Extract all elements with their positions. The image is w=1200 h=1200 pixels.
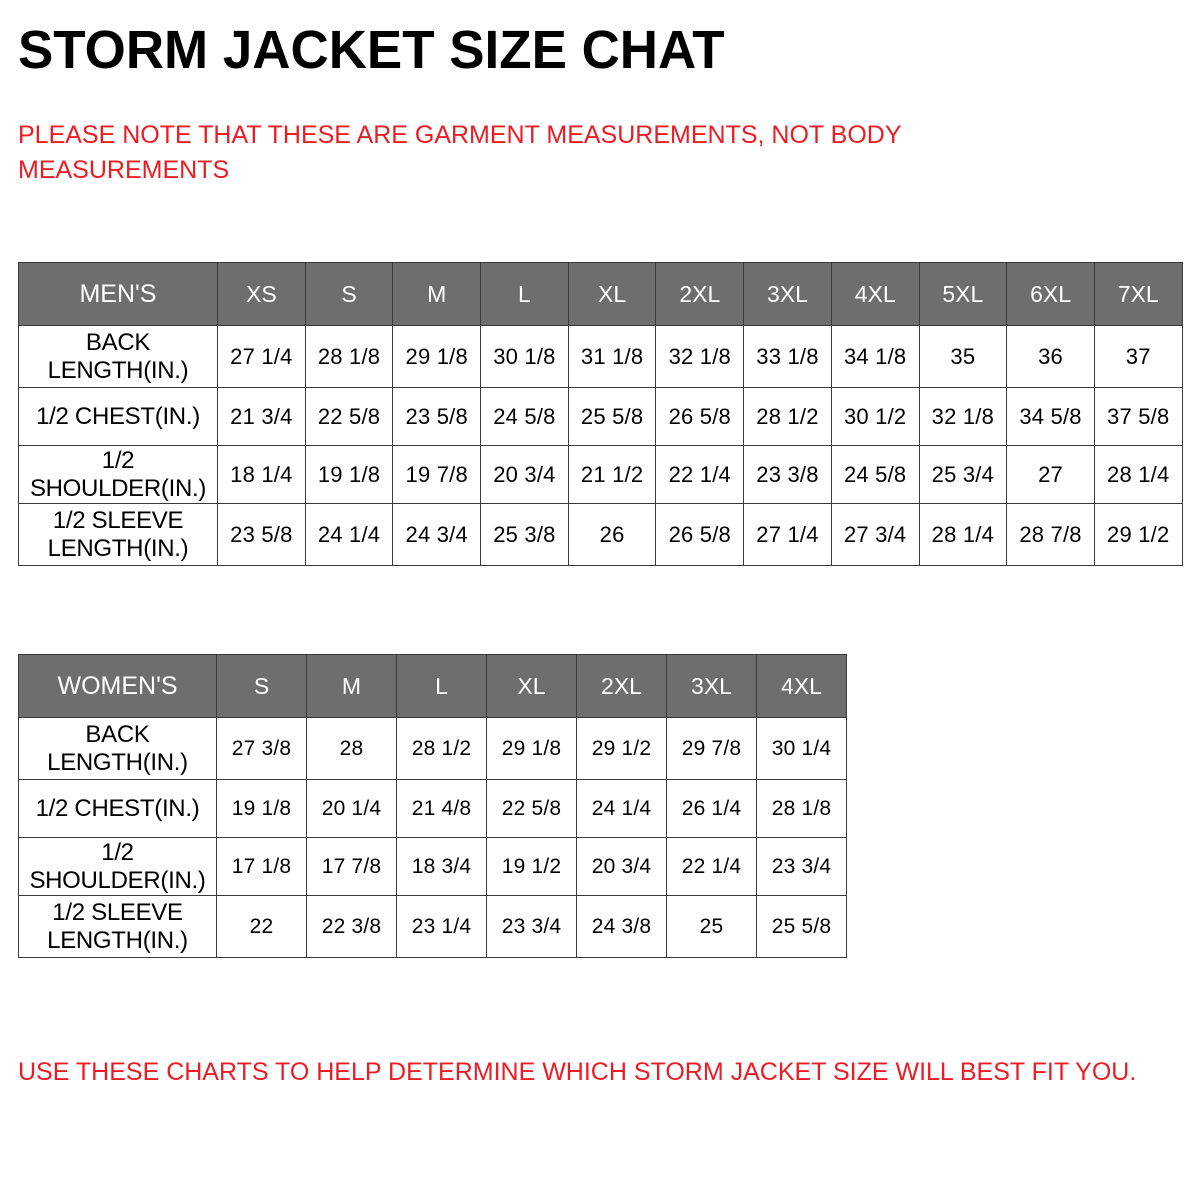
mens-measurement-label: 1/2 CHEST(IN.) (19, 388, 218, 446)
measurement-cell: 19 1/2 (487, 838, 577, 896)
measurement-cell: 30 1/8 (481, 326, 569, 388)
measurement-cell: 17 7/8 (307, 838, 397, 896)
page-title: STORM JACKET SIZE CHAT (18, 22, 725, 79)
measurement-cell: 24 3/8 (577, 896, 667, 958)
measurement-cell: 28 1/4 (1094, 446, 1182, 504)
measurement-cell: 20 1/4 (307, 780, 397, 838)
womens-size-header-3xl: 3XL (667, 655, 757, 718)
measurement-cell: 24 5/8 (831, 446, 919, 504)
measurement-cell: 23 3/8 (744, 446, 832, 504)
measurement-cell: 31 1/8 (568, 326, 656, 388)
measurement-cell: 22 1/4 (667, 838, 757, 896)
measurement-cell: 28 (307, 718, 397, 780)
table-row: 1/2 CHEST(IN.)19 1/820 1/421 4/822 5/824… (19, 780, 847, 838)
measurement-cell: 27 (1007, 446, 1095, 504)
womens-size-header-4xl: 4XL (757, 655, 847, 718)
mens-table-head: MEN'SXSSMLXL2XL3XL4XL5XL6XL7XL (19, 263, 1183, 326)
measurement-cell: 26 5/8 (656, 388, 744, 446)
measurement-cell: 20 3/4 (577, 838, 667, 896)
womens-size-header-s: S (217, 655, 307, 718)
measurement-cell: 27 1/4 (744, 504, 832, 566)
measurement-cell: 29 1/8 (393, 326, 481, 388)
womens-size-header-xl: XL (487, 655, 577, 718)
measurement-cell: 19 1/8 (217, 780, 307, 838)
womens-table-head: WOMEN'SSMLXL2XL3XL4XL (19, 655, 847, 718)
measurement-cell: 24 3/4 (393, 504, 481, 566)
mens-table-corner-label: MEN'S (19, 263, 218, 326)
womens-measurement-label: 1/2 CHEST(IN.) (19, 780, 217, 838)
mens-size-header-l: L (481, 263, 569, 326)
measurement-cell: 33 1/8 (744, 326, 832, 388)
mens-size-header-6xl: 6XL (1007, 263, 1095, 326)
measurement-cell: 28 1/2 (744, 388, 832, 446)
measurement-cell: 20 3/4 (481, 446, 569, 504)
measurement-cell: 28 1/2 (397, 718, 487, 780)
mens-size-header-xl: XL (568, 263, 656, 326)
mens-size-header-m: M (393, 263, 481, 326)
measurement-cell: 28 1/8 (757, 780, 847, 838)
measurement-cell: 23 5/8 (218, 504, 306, 566)
measurement-cell: 17 1/8 (217, 838, 307, 896)
mens-size-header-2xl: 2XL (656, 263, 744, 326)
measurement-cell: 21 1/2 (568, 446, 656, 504)
measurement-cell: 23 3/4 (487, 896, 577, 958)
measurement-cell: 37 5/8 (1094, 388, 1182, 446)
womens-table-corner-label: WOMEN'S (19, 655, 217, 718)
measurement-cell: 23 1/4 (397, 896, 487, 958)
measurement-cell: 27 1/4 (218, 326, 306, 388)
measurement-cell: 30 1/2 (831, 388, 919, 446)
measurement-cell: 24 1/4 (305, 504, 393, 566)
measurement-cell: 22 3/8 (307, 896, 397, 958)
table-row: 1/2 SHOULDER(IN.)17 1/817 7/818 3/419 1/… (19, 838, 847, 896)
measurement-cell: 32 1/8 (656, 326, 744, 388)
measurement-cell: 25 5/8 (757, 896, 847, 958)
measurement-cell: 34 1/8 (831, 326, 919, 388)
garment-measurement-note: PLEASE NOTE THAT THESE ARE GARMENT MEASU… (18, 118, 978, 187)
measurement-cell: 25 (667, 896, 757, 958)
measurement-cell: 29 7/8 (667, 718, 757, 780)
womens-measurement-label: 1/2 SLEEVELENGTH(IN.) (19, 896, 217, 958)
measurement-cell: 32 1/8 (919, 388, 1007, 446)
measurement-cell: 23 5/8 (393, 388, 481, 446)
measurement-cell: 35 (919, 326, 1007, 388)
mens-size-header-s: S (305, 263, 393, 326)
mens-measurement-label: BACKLENGTH(IN.) (19, 326, 218, 388)
measurement-cell: 19 7/8 (393, 446, 481, 504)
table-row: BACKLENGTH(IN.)27 3/82828 1/229 1/829 1/… (19, 718, 847, 780)
measurement-cell: 23 3/4 (757, 838, 847, 896)
womens-size-table: WOMEN'SSMLXL2XL3XL4XL BACKLENGTH(IN.)27 … (18, 654, 847, 958)
measurement-cell: 22 1/4 (656, 446, 744, 504)
womens-size-header-m: M (307, 655, 397, 718)
measurement-cell: 25 5/8 (568, 388, 656, 446)
womens-measurement-label: BACKLENGTH(IN.) (19, 718, 217, 780)
measurement-cell: 26 5/8 (656, 504, 744, 566)
chart-usage-note: USE THESE CHARTS TO HELP DETERMINE WHICH… (18, 1058, 1138, 1087)
measurement-cell: 22 5/8 (487, 780, 577, 838)
measurement-cell: 29 1/8 (487, 718, 577, 780)
measurement-cell: 34 5/8 (1007, 388, 1095, 446)
table-row: 1/2 SHOULDER(IN.)18 1/419 1/819 7/820 3/… (19, 446, 1183, 504)
table-row: 1/2 SLEEVELENGTH(IN.)2222 3/823 1/423 3/… (19, 896, 847, 958)
table-row: BACKLENGTH(IN.)27 1/428 1/829 1/830 1/83… (19, 326, 1183, 388)
measurement-cell: 28 1/8 (305, 326, 393, 388)
mens-size-header-4xl: 4XL (831, 263, 919, 326)
measurement-cell: 19 1/8 (305, 446, 393, 504)
mens-size-header-5xl: 5XL (919, 263, 1007, 326)
measurement-cell: 28 1/4 (919, 504, 1007, 566)
mens-table-body: BACKLENGTH(IN.)27 1/428 1/829 1/830 1/83… (19, 326, 1183, 566)
measurement-cell: 36 (1007, 326, 1095, 388)
table-row: 1/2 CHEST(IN.)21 3/422 5/823 5/824 5/825… (19, 388, 1183, 446)
measurement-cell: 24 1/4 (577, 780, 667, 838)
measurement-cell: 22 (217, 896, 307, 958)
measurement-cell: 28 7/8 (1007, 504, 1095, 566)
mens-header-row: MEN'SXSSMLXL2XL3XL4XL5XL6XL7XL (19, 263, 1183, 326)
mens-measurement-label: 1/2 SHOULDER(IN.) (19, 446, 218, 504)
size-chart-page: STORM JACKET SIZE CHAT PLEASE NOTE THAT … (0, 0, 1200, 1200)
mens-measurement-label: 1/2 SLEEVELENGTH(IN.) (19, 504, 218, 566)
measurement-cell: 25 3/8 (481, 504, 569, 566)
measurement-cell: 27 3/8 (217, 718, 307, 780)
womens-table-body: BACKLENGTH(IN.)27 3/82828 1/229 1/829 1/… (19, 718, 847, 958)
measurement-cell: 26 1/4 (667, 780, 757, 838)
measurement-cell: 37 (1094, 326, 1182, 388)
mens-size-table: MEN'SXSSMLXL2XL3XL4XL5XL6XL7XL BACKLENGT… (18, 262, 1183, 566)
measurement-cell: 30 1/4 (757, 718, 847, 780)
womens-size-header-2xl: 2XL (577, 655, 667, 718)
mens-size-header-7xl: 7XL (1094, 263, 1182, 326)
womens-size-header-l: L (397, 655, 487, 718)
measurement-cell: 18 3/4 (397, 838, 487, 896)
womens-header-row: WOMEN'SSMLXL2XL3XL4XL (19, 655, 847, 718)
table-row: 1/2 SLEEVELENGTH(IN.)23 5/824 1/424 3/42… (19, 504, 1183, 566)
measurement-cell: 24 5/8 (481, 388, 569, 446)
measurement-cell: 27 3/4 (831, 504, 919, 566)
mens-size-header-xs: XS (218, 263, 306, 326)
measurement-cell: 29 1/2 (577, 718, 667, 780)
measurement-cell: 21 3/4 (218, 388, 306, 446)
womens-measurement-label: 1/2 SHOULDER(IN.) (19, 838, 217, 896)
measurement-cell: 21 4/8 (397, 780, 487, 838)
measurement-cell: 26 (568, 504, 656, 566)
measurement-cell: 22 5/8 (305, 388, 393, 446)
measurement-cell: 29 1/2 (1094, 504, 1182, 566)
measurement-cell: 18 1/4 (218, 446, 306, 504)
measurement-cell: 25 3/4 (919, 446, 1007, 504)
mens-size-header-3xl: 3XL (744, 263, 832, 326)
